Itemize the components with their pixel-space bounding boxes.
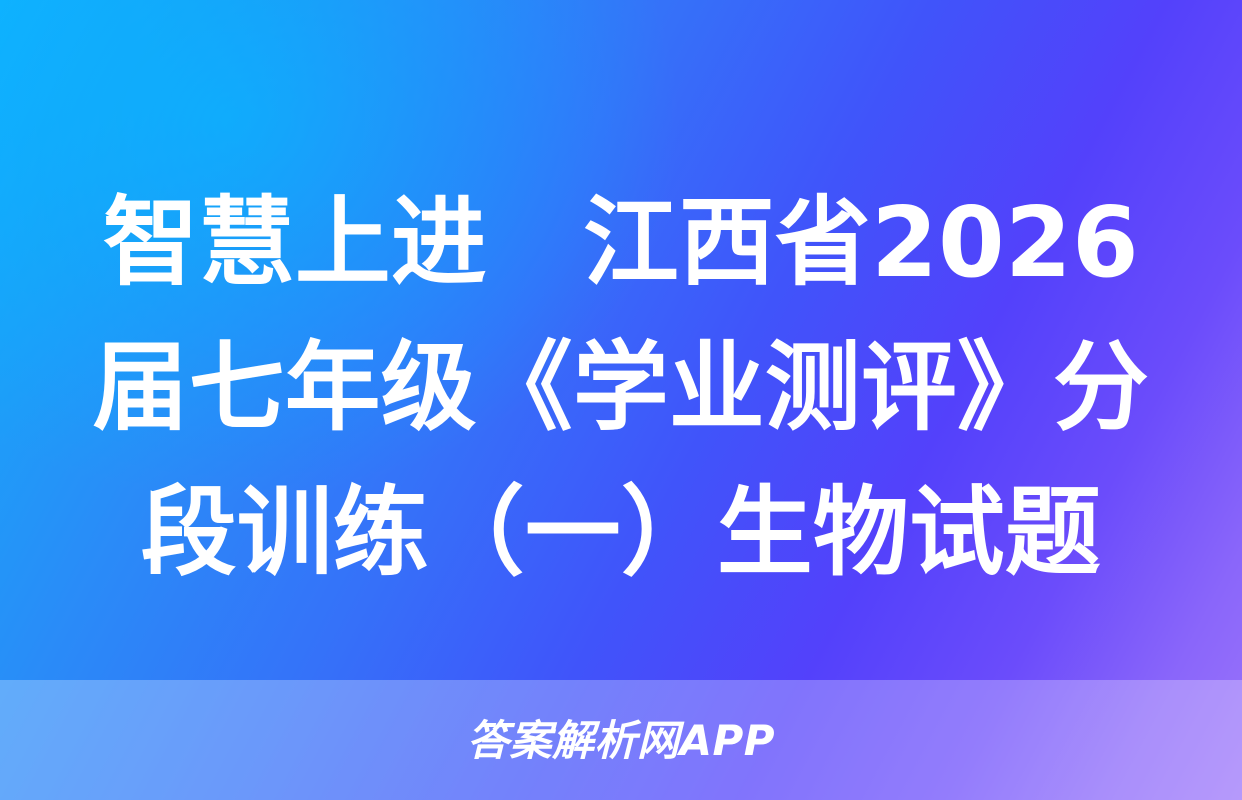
exam-title-block: 智慧上进 江西省2026 届七年级《学业测评》分 段训练（一）生物试题 xyxy=(0,170,1242,605)
exam-title-line-2: 届七年级《学业测评》分 xyxy=(82,315,1160,460)
exam-title-line-1: 智慧上进 江西省2026 xyxy=(82,170,1160,315)
exam-cover-card: 智慧上进 江西省2026 届七年级《学业测评》分 段训练（一）生物试题 答案解析… xyxy=(0,0,1242,800)
exam-title-line-3: 段训练（一）生物试题 xyxy=(82,460,1160,605)
app-watermark-label: 答案解析网APP xyxy=(467,720,775,762)
footer-watermark-area: 答案解析网APP xyxy=(0,702,1242,780)
